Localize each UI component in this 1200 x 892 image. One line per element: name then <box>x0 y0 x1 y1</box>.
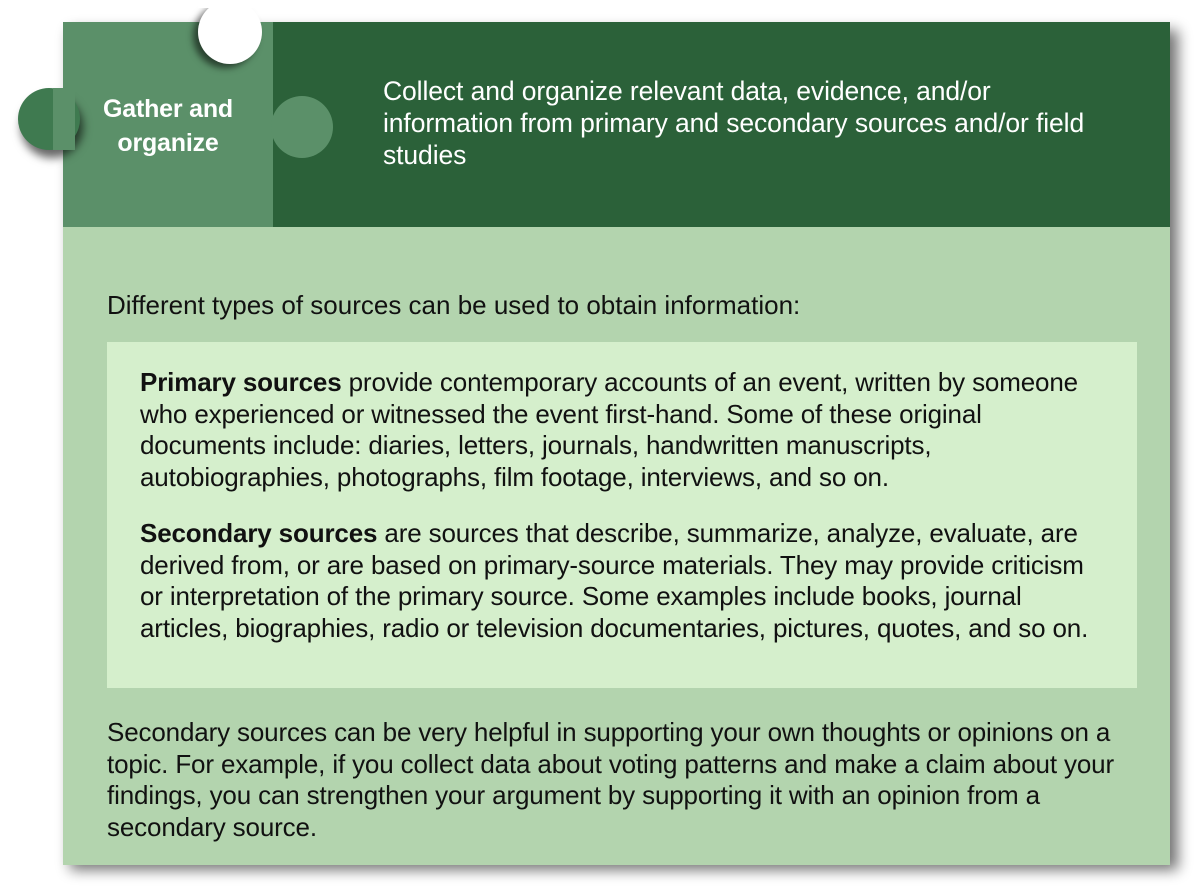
sources-panel: Primary sources provide contemporary acc… <box>107 342 1137 688</box>
puzzle-card: Gather and organize Collect and organize… <box>63 22 1170 865</box>
primary-sources-lead: Primary sources <box>140 367 342 397</box>
intro-text: Different types of sources can be used t… <box>107 289 1107 321</box>
card-body: Different types of sources can be used t… <box>63 227 1170 865</box>
slide-canvas: Gather and organize Collect and organize… <box>0 0 1200 892</box>
secondary-sources-paragraph: Secondary sources are sources that descr… <box>140 518 1102 644</box>
puzzle-piece-title: Gather and organize <box>63 92 273 160</box>
puzzle-knob-left-join <box>53 88 75 150</box>
puzzle-notch-top-cover <box>198 0 262 8</box>
puzzle-knob-middle-icon <box>271 96 333 158</box>
puzzle-notch-top-icon <box>198 0 262 64</box>
card-header: Gather and organize Collect and organize… <box>63 22 1170 227</box>
secondary-sources-lead: Secondary sources <box>140 518 377 548</box>
header-description-text: Collect and organize relevant data, evid… <box>383 75 1103 171</box>
outro-text: Secondary sources can be very helpful in… <box>107 717 1147 843</box>
primary-sources-paragraph: Primary sources provide contemporary acc… <box>140 367 1102 493</box>
